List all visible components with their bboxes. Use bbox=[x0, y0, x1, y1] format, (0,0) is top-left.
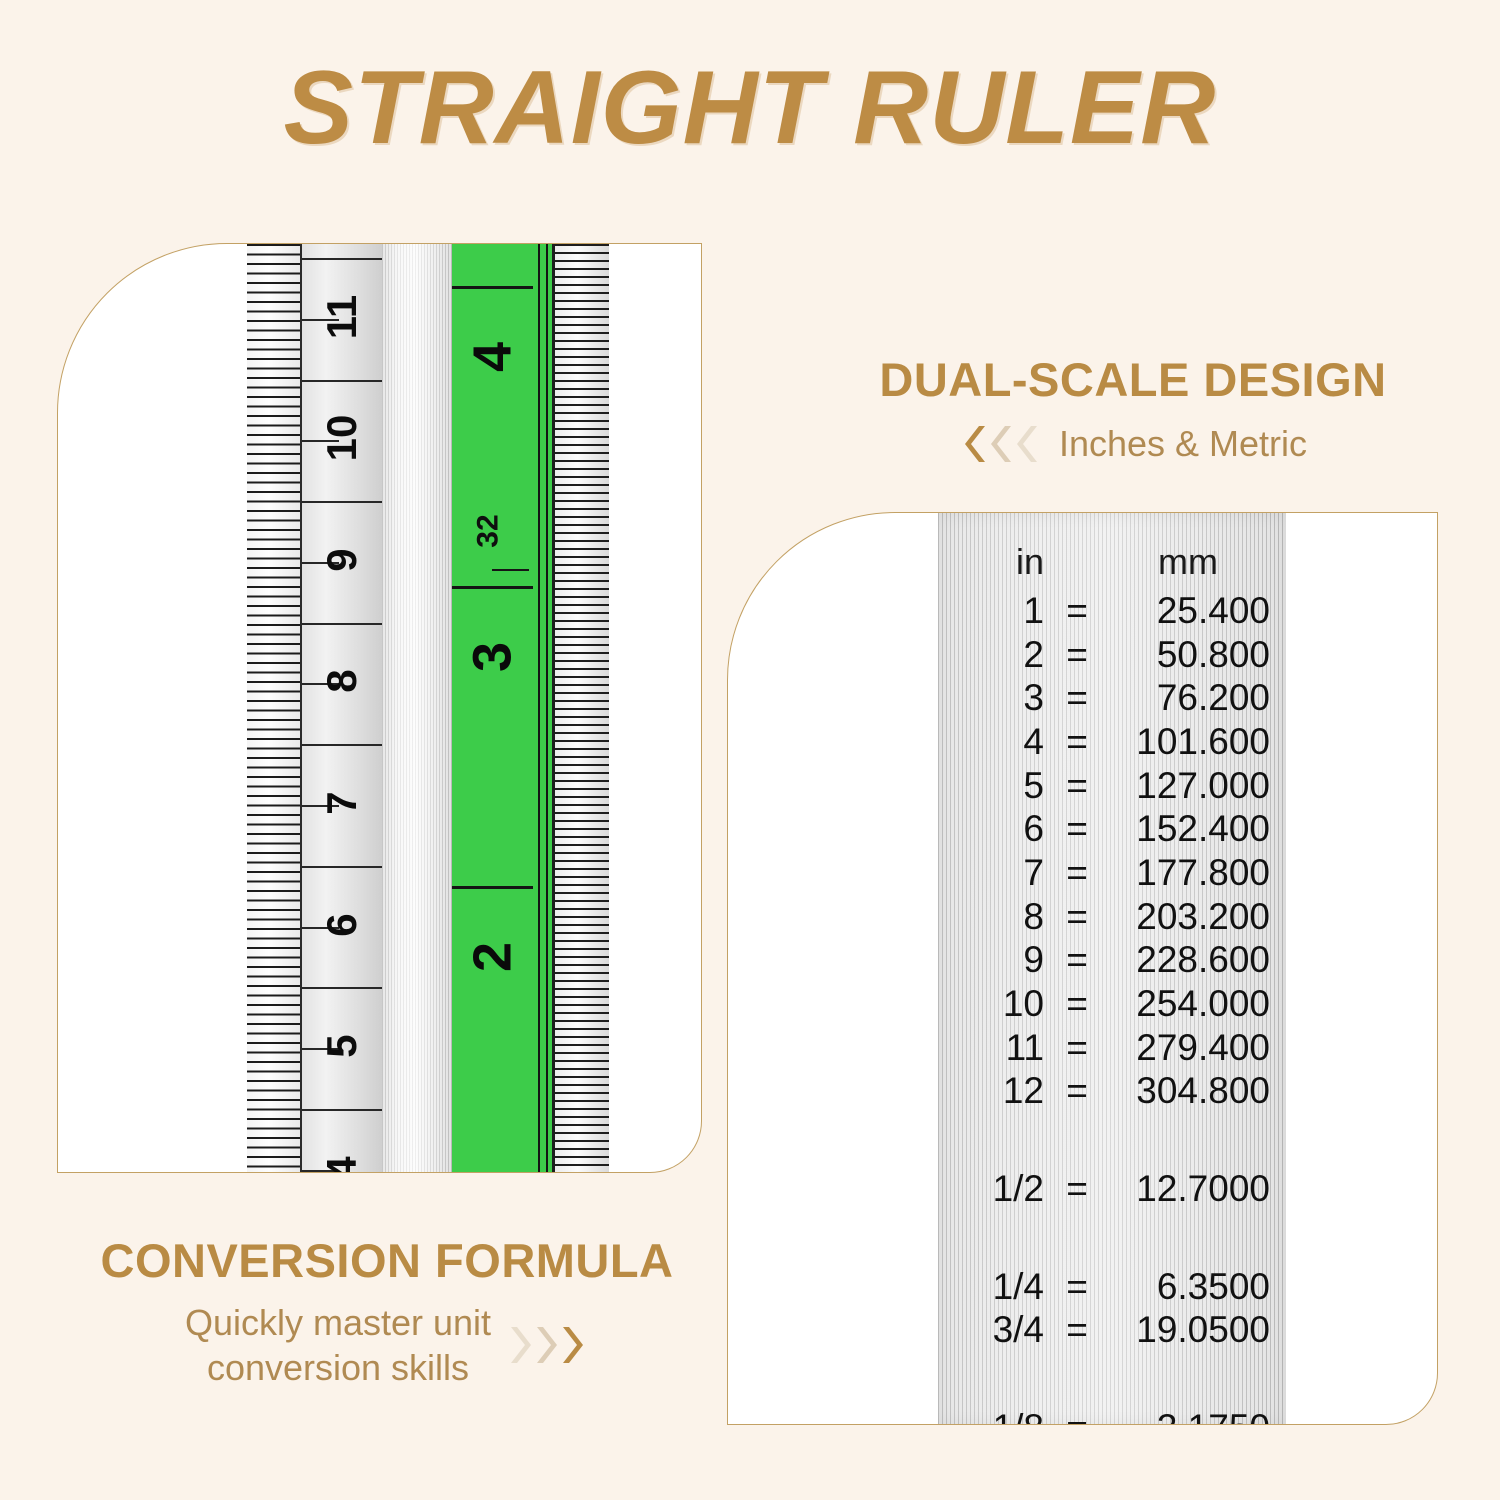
metric-scale-label: 5 bbox=[318, 1006, 366, 1086]
metric-tick-strip bbox=[247, 244, 302, 1173]
conversion-eighth-rows: 1/8=3.17503/8=9.52505/8=15.8750 bbox=[938, 1406, 1286, 1425]
cell-in: 6 bbox=[938, 807, 1050, 851]
cell-mm: 25.400 bbox=[1104, 589, 1280, 633]
cell-equals: = bbox=[1050, 633, 1104, 677]
cm-gradation-line bbox=[302, 380, 382, 382]
table-row: 8=203.200 bbox=[938, 895, 1286, 939]
metric-scale-label: 10 bbox=[318, 399, 366, 479]
table-row: 10=254.000 bbox=[938, 982, 1286, 1026]
cell-mm: 152.400 bbox=[1104, 807, 1280, 851]
cell-equals: = bbox=[1050, 676, 1104, 720]
cm-gradation-line bbox=[302, 744, 382, 746]
inch-scale-label: 3 bbox=[461, 616, 523, 697]
cell-in: 11 bbox=[938, 1026, 1050, 1070]
cell-in: 8 bbox=[938, 895, 1050, 939]
cell-in: 7 bbox=[938, 851, 1050, 895]
inch-scale-label: 4 bbox=[461, 316, 523, 397]
metric-scale-label: 9 bbox=[318, 520, 366, 600]
table-row: 12=304.800 bbox=[938, 1069, 1286, 1113]
cell-mm: 76.200 bbox=[1104, 676, 1280, 720]
table-row: 5=127.000 bbox=[938, 764, 1286, 808]
column-header-in: in bbox=[938, 541, 1050, 583]
table-row: 11=279.400 bbox=[938, 1026, 1286, 1070]
cm-gradation-line bbox=[302, 623, 382, 625]
inch-gradation-line bbox=[452, 886, 533, 889]
conversion-table-panel: in mm 1=25.4002=50.8003=76.2004=101.6005… bbox=[727, 512, 1438, 1425]
cell-mm: 3.1750 bbox=[1104, 1406, 1280, 1425]
dual-scale-feature: DUAL-SCALE DESIGN Inches & Metric bbox=[833, 352, 1433, 466]
chevron-left-group bbox=[959, 424, 1037, 464]
fraction-tick-strip bbox=[552, 244, 609, 1173]
cm-gradation-line bbox=[302, 258, 382, 260]
ruler-photo-panel: 1110987654 43232 bbox=[57, 243, 702, 1173]
metric-scale-numbers: 1110987654 bbox=[302, 244, 382, 1173]
cell-equals: = bbox=[1050, 807, 1104, 851]
column-header-spacer bbox=[1050, 541, 1104, 583]
cell-equals: = bbox=[1050, 1406, 1104, 1425]
table-row: 9=228.600 bbox=[938, 938, 1286, 982]
table-row: 1/4=6.3500 bbox=[938, 1265, 1286, 1309]
cell-in: 4 bbox=[938, 720, 1050, 764]
metric-scale-label: 7 bbox=[318, 763, 366, 843]
cell-equals: = bbox=[1050, 982, 1104, 1026]
chevron-left-icon bbox=[1011, 424, 1037, 464]
table-row: 1=25.400 bbox=[938, 589, 1286, 633]
conversion-subtitle-line-1: Quickly master unit bbox=[185, 1300, 491, 1345]
cell-in: 9 bbox=[938, 938, 1050, 982]
table-row: 1/2=12.7000 bbox=[938, 1167, 1286, 1211]
cell-mm: 203.200 bbox=[1104, 895, 1280, 939]
cell-in: 12 bbox=[938, 1069, 1050, 1113]
cell-mm: 50.800 bbox=[1104, 633, 1280, 677]
conversion-quarter-rows: 1/4=6.35003/4=19.0500 bbox=[938, 1265, 1286, 1352]
cell-in: 5 bbox=[938, 764, 1050, 808]
cell-mm: 177.800 bbox=[1104, 851, 1280, 895]
table-gap bbox=[938, 1352, 1286, 1406]
table-row: 4=101.600 bbox=[938, 720, 1286, 764]
conversion-formula-feature: CONVERSION FORMULA Quickly master unit c… bbox=[57, 1233, 717, 1390]
conversion-table-header: in mm bbox=[938, 541, 1286, 583]
metric-scale-label: 11 bbox=[318, 277, 366, 357]
dual-scale-title: DUAL-SCALE DESIGN bbox=[833, 352, 1433, 407]
cm-gradation-line bbox=[302, 866, 382, 868]
cell-in: 3 bbox=[938, 676, 1050, 720]
chevron-right-icon bbox=[563, 1325, 589, 1365]
cell-mm: 304.800 bbox=[1104, 1069, 1280, 1113]
table-row: 7=177.800 bbox=[938, 851, 1286, 895]
cell-equals: = bbox=[1050, 1026, 1104, 1070]
cm-gradation-line bbox=[302, 1109, 382, 1111]
ruler-product-photo: 1110987654 43232 bbox=[247, 244, 609, 1173]
cell-equals: = bbox=[1050, 851, 1104, 895]
cell-equals: = bbox=[1050, 1265, 1104, 1309]
conversion-subtitle-line-2: conversion skills bbox=[185, 1345, 491, 1390]
conversion-whole-rows: 1=25.4002=50.8003=76.2004=101.6005=127.0… bbox=[938, 589, 1286, 1113]
cell-equals: = bbox=[1050, 938, 1104, 982]
column-header-mm: mm bbox=[1104, 541, 1280, 583]
steel-gutter bbox=[382, 244, 452, 1173]
conversion-half-rows: 1/2=12.7000 bbox=[938, 1167, 1286, 1211]
cell-equals: = bbox=[1050, 764, 1104, 808]
metric-scale-label: 4 bbox=[318, 1128, 366, 1173]
cell-in: 1/4 bbox=[938, 1265, 1050, 1309]
dual-scale-subtitle: Inches & Metric bbox=[1059, 421, 1307, 466]
cell-equals: = bbox=[1050, 1069, 1104, 1113]
table-row: 6=152.400 bbox=[938, 807, 1286, 851]
fraction-gradation-line bbox=[492, 569, 529, 571]
cell-mm: 6.3500 bbox=[1104, 1265, 1280, 1309]
table-gap bbox=[938, 1211, 1286, 1265]
cell-equals: = bbox=[1050, 1308, 1104, 1352]
page-title: STRAIGHT RULER bbox=[0, 52, 1500, 164]
cell-mm: 254.000 bbox=[1104, 982, 1280, 1026]
cell-in: 3/4 bbox=[938, 1308, 1050, 1352]
cell-in: 1/8 bbox=[938, 1406, 1050, 1425]
table-row: 2=50.800 bbox=[938, 633, 1286, 677]
metric-scale-label: 6 bbox=[318, 885, 366, 965]
cell-equals: = bbox=[1050, 1167, 1104, 1211]
cell-equals: = bbox=[1050, 720, 1104, 764]
cell-mm: 12.7000 bbox=[1104, 1167, 1280, 1211]
chevron-left-icon bbox=[959, 424, 985, 464]
inch-gradation-line bbox=[452, 286, 533, 289]
green-inch-band: 43232 bbox=[452, 244, 533, 1173]
cell-mm: 228.600 bbox=[1104, 938, 1280, 982]
fraction-denominator-label: 32 bbox=[471, 490, 505, 571]
cell-mm: 279.400 bbox=[1104, 1026, 1280, 1070]
cell-in: 1 bbox=[938, 589, 1050, 633]
conversion-formula-subtitle: Quickly master unit conversion skills bbox=[185, 1300, 491, 1390]
green-rail-lines bbox=[533, 244, 552, 1173]
steel-scale-strip: in mm 1=25.4002=50.8003=76.2004=101.6005… bbox=[938, 513, 1286, 1425]
chevron-left-icon bbox=[985, 424, 1011, 464]
cell-in: 1/2 bbox=[938, 1167, 1050, 1211]
metric-scale-label: 8 bbox=[318, 642, 366, 722]
table-row: 3/4=19.0500 bbox=[938, 1308, 1286, 1352]
cm-gradation-line bbox=[302, 987, 382, 989]
inch-scale-label: 2 bbox=[461, 916, 523, 997]
cell-equals: = bbox=[1050, 589, 1104, 633]
table-gap bbox=[938, 1113, 1286, 1167]
cell-mm: 101.600 bbox=[1104, 720, 1280, 764]
chevron-right-group bbox=[511, 1325, 589, 1365]
inch-gradation-line bbox=[452, 586, 533, 589]
cell-mm: 127.000 bbox=[1104, 764, 1280, 808]
table-row: 3=76.200 bbox=[938, 676, 1286, 720]
cm-gradation-line bbox=[302, 501, 382, 503]
cell-equals: = bbox=[1050, 895, 1104, 939]
cell-in: 2 bbox=[938, 633, 1050, 677]
chevron-right-icon bbox=[511, 1325, 537, 1365]
cell-in: 10 bbox=[938, 982, 1050, 1026]
chevron-right-icon bbox=[537, 1325, 563, 1365]
cell-mm: 19.0500 bbox=[1104, 1308, 1280, 1352]
conversion-formula-title: CONVERSION FORMULA bbox=[57, 1233, 717, 1288]
table-row: 1/8=3.1750 bbox=[938, 1406, 1286, 1425]
